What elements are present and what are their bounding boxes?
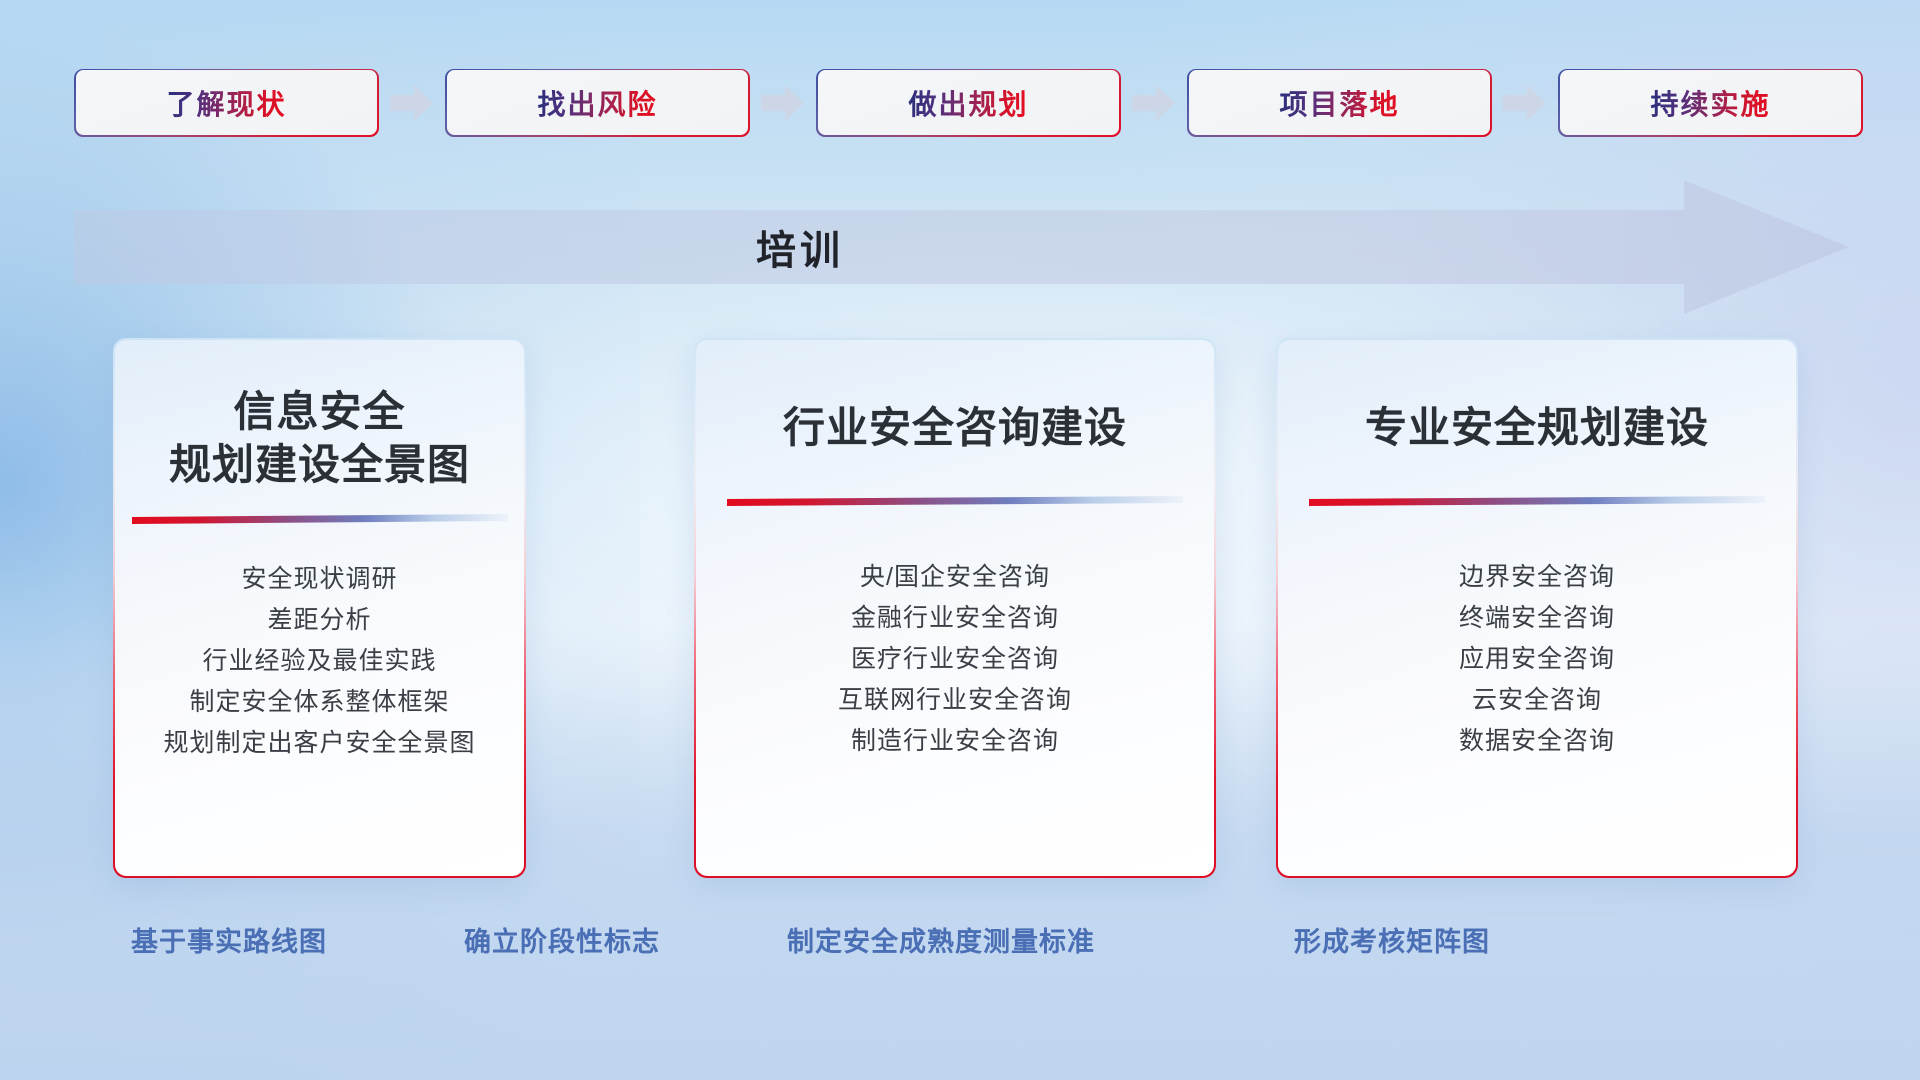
- step-chip-4[interactable]: 持续实施: [1558, 69, 1863, 137]
- list-item: 终端安全咨询: [1459, 598, 1615, 639]
- list-item: 医疗行业安全咨询: [851, 639, 1059, 680]
- list-item: 行业经验及最佳实践: [202, 641, 436, 682]
- list-item: 金融行业安全咨询: [851, 598, 1059, 639]
- list-item: 制定安全体系整体框架: [189, 682, 449, 723]
- gradient-divider-icon: [132, 513, 508, 527]
- card-professional-security-planning[interactable]: 专业安全规划建设: [1276, 338, 1798, 878]
- banner-title-text: 培训: [756, 218, 844, 276]
- gradient-divider-icon: [727, 495, 1183, 509]
- step-chip-surface: 了解现状: [76, 70, 378, 135]
- caption-matrix: 形成考核矩阵图: [1294, 920, 1490, 959]
- step-chip-surface: 做出规划: [818, 70, 1120, 135]
- step-label: 项目落地: [1279, 83, 1399, 123]
- step-label: 了解现状: [166, 83, 286, 123]
- list-item: 云安全咨询: [1472, 680, 1602, 721]
- step-chip-surface: 持续实施: [1560, 70, 1862, 135]
- card-item-list: 安全现状调研 差距分析 行业经验及最佳实践 制定安全体系整体框架 规划制定出客户…: [163, 559, 475, 764]
- card-information-security-blueprint[interactable]: 信息安全 规划建设全景图: [113, 338, 526, 878]
- arrow-right-icon: [1127, 80, 1181, 126]
- card-surface: 信息安全 规划建设全景图: [115, 340, 525, 877]
- list-item: 制造行业安全咨询: [851, 721, 1059, 762]
- gradient-divider-icon: [1309, 495, 1765, 509]
- list-item: 数据安全咨询: [1459, 721, 1615, 762]
- step-label: 找出风险: [537, 83, 657, 123]
- arrow-right-icon: [385, 80, 439, 126]
- step-chip-surface: 找出风险: [447, 70, 749, 135]
- process-step-row: 了解现状 找出风险 做出规划 项目落地: [0, 60, 1920, 145]
- step-label: 做出规划: [908, 83, 1028, 123]
- card-industry-security-consulting[interactable]: 行业安全咨询建设: [694, 338, 1216, 878]
- list-item: 差距分析: [267, 600, 371, 641]
- arrow-right-icon: [756, 80, 810, 126]
- step-chip-surface: 项目落地: [1189, 70, 1491, 135]
- list-item: 互联网行业安全咨询: [838, 680, 1072, 721]
- caption-row: 基于事实路线图 确立阶段性标志 制定安全成熟度测量标准 形成考核矩阵图: [0, 920, 1920, 980]
- card-title: 信息安全 规划建设全景图: [143, 386, 496, 492]
- banner-title: 培训: [0, 177, 1600, 317]
- step-chip-2[interactable]: 做出规划: [816, 69, 1121, 137]
- caption-milestones: 确立阶段性标志: [464, 920, 660, 959]
- step-label: 持续实施: [1650, 83, 1770, 123]
- card-surface: 专业安全规划建设: [1278, 340, 1797, 877]
- card-title: 专业安全规划建设: [1339, 402, 1735, 455]
- caption-maturity-metric: 制定安全成熟度测量标准: [787, 920, 1095, 959]
- card-item-list: 央/国企安全咨询 金融行业安全咨询 医疗行业安全咨询 互联网行业安全咨询 制造行…: [838, 557, 1072, 762]
- card-row: 信息安全 规划建设全景图: [0, 338, 1920, 878]
- list-item: 央/国企安全咨询: [860, 557, 1050, 598]
- step-chip-3[interactable]: 项目落地: [1187, 69, 1492, 137]
- list-item: 应用安全咨询: [1459, 639, 1615, 680]
- card-surface: 行业安全咨询建设: [696, 340, 1215, 877]
- arrow-right-icon: [1498, 80, 1552, 126]
- list-item: 边界安全咨询: [1459, 557, 1615, 598]
- list-item: 规划制定出客户安全全景图: [163, 723, 475, 764]
- card-title: 行业安全咨询建设: [757, 402, 1153, 455]
- step-chip-1[interactable]: 找出风险: [445, 69, 750, 137]
- caption-roadmap: 基于事实路线图: [131, 920, 327, 959]
- list-item: 安全现状调研: [241, 559, 397, 600]
- card-item-list: 边界安全咨询 终端安全咨询 应用安全咨询 云安全咨询 数据安全咨询: [1459, 557, 1615, 762]
- step-chip-0[interactable]: 了解现状: [74, 69, 379, 137]
